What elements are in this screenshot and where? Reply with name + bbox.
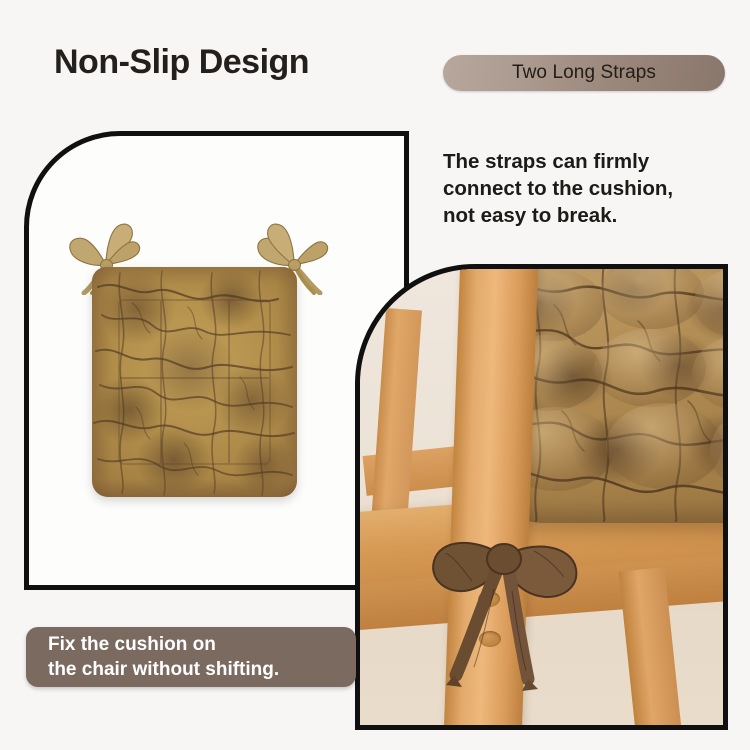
page-title: Non-Slip Design: [54, 43, 309, 82]
tied-strap-bow-icon: [416, 479, 596, 699]
cushion-edge: [277, 267, 297, 497]
description-line-1: The straps can firmly: [443, 148, 733, 175]
status-badge: Two Long Straps: [443, 55, 725, 91]
cushion-tuft-seam: [120, 377, 269, 379]
description-text: The straps can firmly connect to the cus…: [443, 148, 733, 229]
cushion-edge: [92, 479, 297, 497]
description-line-2: connect to the cushion,: [443, 175, 733, 202]
cushion-puff: [594, 329, 706, 407]
badge-label: Two Long Straps: [512, 62, 656, 84]
cushion-product-image: [60, 215, 350, 500]
cushion-edge: [92, 267, 112, 497]
right-photo-frame: [355, 264, 728, 730]
cushion-inner-seam: [118, 299, 271, 465]
cushion-tuft-seam: [228, 301, 230, 463]
infographic-canvas: Non-Slip Design Two Long Straps The stra…: [0, 0, 750, 750]
chair-photo: [360, 269, 723, 725]
caption-box: Fix the cushion on the chair without shi…: [26, 627, 356, 687]
cushion-edge: [92, 267, 297, 285]
caption-line-1: Fix the cushion on: [48, 632, 356, 657]
cushion-body: [92, 267, 297, 497]
description-line-3: not easy to break.: [443, 202, 733, 229]
cushion-puff: [606, 403, 722, 489]
cushion-tuft-seam: [160, 301, 162, 463]
caption-line-2: the chair without shifting.: [48, 657, 356, 682]
